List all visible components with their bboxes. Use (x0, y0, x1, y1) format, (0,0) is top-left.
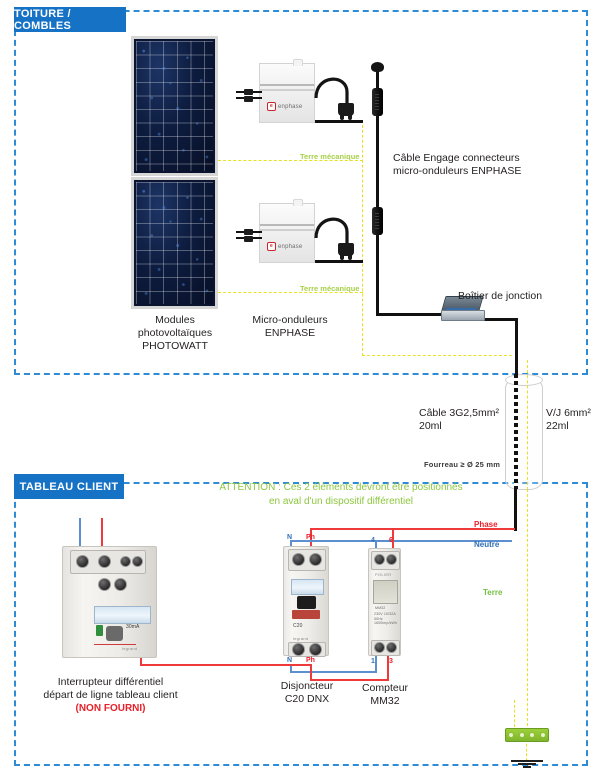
enphase-logo-text: enphase (278, 104, 302, 110)
diagram-canvas: TOITURE / COMBLES TABLEAU CLIENT Modules… (0, 0, 602, 776)
zone-toiture-banner: TOITURE / COMBLES (14, 7, 126, 32)
rcd-terminal-out2 (114, 578, 127, 591)
zone-toiture-title: TOITURE / COMBLES (14, 8, 126, 32)
conduit-mouth (505, 374, 543, 386)
ground-bar-2 (518, 763, 536, 765)
rcd-brand-text: legrand (122, 646, 137, 651)
earth-tag-top: Terre mécanique (300, 150, 359, 163)
meter-spec1-text: 230V 10/32A (374, 612, 396, 616)
ac-cable-label: Câble 3G2,5mm² 20ml (419, 407, 509, 433)
rcd-device: 30mA legrand (62, 546, 157, 658)
micro-inverter-tab (293, 59, 303, 66)
micro-inverter-body: e enphase (259, 63, 315, 123)
enphase-logo-text: enphase (278, 244, 302, 250)
main-feed-vertical (514, 489, 517, 531)
pv-module-bottom (131, 177, 218, 309)
breaker-terminal-top-n (292, 553, 305, 566)
engage-connector-2 (372, 207, 383, 235)
mc4-connector-bottom (236, 228, 262, 242)
breaker-label-window (291, 579, 324, 595)
meter-model-text: MM32 (375, 606, 385, 610)
junction-box-label: Boîtier de jonction (458, 290, 578, 303)
meter-spec2-text: 50Hz 1600imp/kWh (374, 617, 401, 626)
rcd-rating-text: 30mA (126, 625, 139, 629)
zone-tableau-title: TABLEAU CLIENT (20, 481, 119, 493)
zone-tableau-banner: TABLEAU CLIENT (14, 474, 124, 499)
breaker-terminal-bottom-ph (309, 643, 322, 656)
breaker-terminal-top-ph (309, 553, 322, 566)
engage-connector-1 (372, 88, 383, 116)
phase-label: Phase (474, 518, 498, 531)
meter-terminal-3-num: 3 (389, 658, 393, 665)
earth-bar-hole (529, 732, 535, 738)
meter-terminal-4-num: 4 (371, 537, 375, 544)
ac-plug-bottom (338, 243, 354, 256)
micro-inverters-label: Micro-onduleurs ENPHASE (238, 314, 342, 340)
earth-bar-hole (540, 732, 546, 738)
rcd-label-window (94, 606, 151, 624)
pv-texture (134, 39, 215, 173)
rcd-not-supplied: (NON FOURNI) (28, 702, 193, 715)
engage-cable-end-cap (371, 62, 384, 72)
breaker-top-ph-num: Ph (306, 534, 315, 541)
earth-terminal-bar (505, 728, 549, 742)
meter-terminal-3 (386, 642, 397, 653)
ground-bar-3 (523, 766, 531, 768)
pv-modules-label: Modules photovoltaïques PHOTOWATT (125, 314, 225, 353)
earth-bar-hole (508, 732, 514, 738)
dc-cable-in-conduit (514, 374, 518, 489)
meter-label: Compteur MM32 (340, 682, 430, 708)
jbox-out-vertical (515, 318, 518, 374)
conduit-label: Fourreau ≥ Ø 25 mm (424, 458, 534, 471)
enphase-logo: e enphase (267, 242, 302, 251)
breaker-out-neutral-h (290, 671, 377, 673)
engage-cable-label: Câble Engage connecteurs micro-onduleurs… (393, 152, 553, 178)
earth-dash-panel (527, 489, 528, 731)
breaker-device: C20 legrand (283, 546, 329, 656)
engage-trunk-corner (376, 288, 379, 316)
mech-earth-dash-run (362, 355, 512, 356)
engage-trunk-horizontal (376, 313, 442, 316)
enphase-logo: e enphase (267, 102, 302, 111)
meter-brand-text: POLIER (375, 572, 391, 577)
meter-terminal-4 (374, 554, 385, 565)
micro-inverter-body: e enphase (259, 203, 315, 263)
junction-box-base (441, 310, 485, 321)
breaker-bottom-n-num: N (287, 657, 292, 664)
rcd-terminal-aux1 (120, 556, 131, 567)
inverter-out-lead-top (315, 120, 363, 123)
rcd-terminal-n (76, 555, 89, 568)
breaker-rating-text: C20 (293, 624, 302, 628)
breaker-bottom-ph-num: Ph (306, 657, 315, 664)
micro-inverter-tab (293, 199, 303, 206)
terre-label: Terre (483, 586, 502, 599)
rcd-toggle-lever (106, 626, 123, 641)
ac-plug-top (338, 103, 354, 116)
ground-bar-1 (511, 760, 543, 762)
meter-terminal-1-num: 1 (371, 658, 375, 665)
conduit-fourreau (505, 378, 543, 490)
pv-texture (134, 180, 215, 306)
breaker-toggle-lever (297, 596, 316, 609)
rcd-breaker-phase-link (140, 664, 310, 666)
neutre-label: Neutre (474, 538, 499, 551)
rcd-terminal-out1 (98, 578, 111, 591)
rcd-label: Interrupteur différentiel départ de lign… (28, 676, 193, 702)
rcd-terminal-ph (98, 555, 111, 568)
meter-terminal-6 (386, 554, 397, 565)
rcd-terminal-aux2 (132, 556, 143, 567)
inverter-out-lead-bottom (315, 260, 363, 263)
meter-terminal-6-num: 6 (389, 537, 393, 544)
breaker-brand-text: legrand (293, 636, 308, 641)
warning-text: ATTENTION : Ces 2 éléments devront être … (196, 481, 486, 509)
breaker-terminal-bottom-n (292, 643, 305, 656)
ground-symbol (508, 758, 546, 768)
meter-lcd-display (373, 580, 398, 604)
earth-cable-label: V/J 6mm² 22ml (546, 407, 602, 433)
meter-in-neutral-v (375, 656, 377, 673)
mc4-connector-top (236, 88, 262, 102)
micro-inverter-top: e enphase (259, 63, 315, 123)
pv-module-top (131, 36, 218, 176)
rcd-test-button (96, 625, 103, 636)
meter-device: POLIER MM32 230V 10/32A 50Hz 1600imp/kWh (368, 548, 401, 656)
earth-tag-bottom: Terre mécanique (300, 282, 359, 295)
rcd-red-stripe (94, 644, 136, 645)
micro-inverter-bottom: e enphase (259, 203, 315, 263)
breaker-lever-slot (292, 610, 320, 619)
earth-bar-hole (519, 732, 525, 738)
breaker-top-n-num: N (287, 534, 292, 541)
meter-terminal-1 (374, 642, 385, 653)
